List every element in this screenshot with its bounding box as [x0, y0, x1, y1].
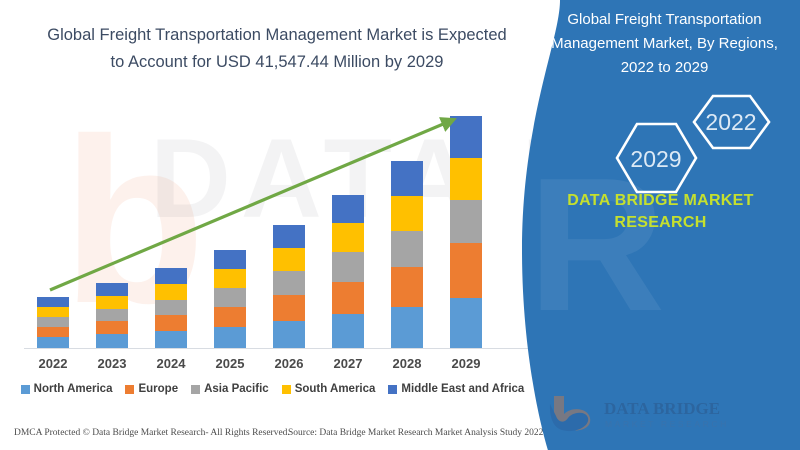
legend-swatch-icon	[282, 385, 291, 394]
hexagon-label-2022: 2022	[705, 109, 756, 135]
x-axis-label-2022: 2022	[23, 356, 83, 371]
bar-segment-2027-middle-east-and-africa	[332, 195, 364, 223]
bar-segment-2025-north-america	[214, 327, 246, 348]
bar-segment-2028-asia-pacific	[391, 231, 423, 267]
bar-segment-2026-middle-east-and-africa	[273, 225, 305, 248]
legend-label: South America	[295, 383, 376, 395]
x-axis-label-2024: 2024	[141, 356, 201, 371]
brand-name-line1: DATA BRIDGE MARKET	[538, 192, 783, 210]
bar-segment-2028-north-america	[391, 307, 423, 348]
bar-segment-2029-asia-pacific	[450, 200, 482, 243]
bar-segment-2023-south-america	[96, 296, 128, 309]
logo-text-line2: MARKET RESEARCH	[605, 419, 729, 429]
bar-segment-2028-south-america	[391, 196, 423, 231]
logo-text-line1: DATA BRIDGE	[604, 399, 720, 418]
bar-segment-2027-europe	[332, 282, 364, 314]
bar-segment-2025-europe	[214, 307, 246, 327]
bar-segment-2026-north-america	[273, 321, 305, 348]
bar-segment-2024-south-america	[155, 284, 187, 300]
x-axis-label-2026: 2026	[259, 356, 319, 371]
infographic-root: b DATA BRIDGE Global Freight Transportat…	[0, 0, 800, 450]
bar-2024	[155, 268, 187, 348]
bar-segment-2029-middle-east-and-africa	[450, 116, 482, 158]
bar-segment-2024-asia-pacific	[155, 300, 187, 315]
branding-title: Global Freight Transportation Management…	[542, 8, 787, 80]
bar-segment-2029-south-america	[450, 158, 482, 200]
bar-segment-2029-europe	[450, 243, 482, 298]
bar-2026	[273, 225, 305, 348]
x-axis-label-2023: 2023	[82, 356, 142, 371]
bar-segment-2024-middle-east-and-africa	[155, 268, 187, 284]
bar-segment-2022-north-america	[37, 337, 69, 348]
bar-segment-2023-asia-pacific	[96, 309, 128, 321]
bar-segment-2024-north-america	[155, 331, 187, 348]
bar-segment-2022-middle-east-and-africa	[37, 297, 69, 307]
bar-segment-2028-europe	[391, 267, 423, 307]
chart-panel: Global Freight Transportation Management…	[0, 0, 560, 450]
legend-item-south-america[interactable]: South America	[282, 383, 376, 395]
legend-item-north-america[interactable]: North America	[21, 383, 113, 395]
bar-segment-2023-middle-east-and-africa	[96, 283, 128, 296]
bar-segment-2029-north-america	[450, 298, 482, 348]
footer-copyright: DMCA Protected © Data Bridge Market Rese…	[14, 428, 290, 438]
brand-name-line2: RESEARCH	[538, 214, 783, 232]
bar-segment-2026-asia-pacific	[273, 271, 305, 295]
legend-swatch-icon	[388, 385, 397, 394]
hexagon-group-icon: 2022 2029	[580, 88, 795, 198]
bar-2027	[332, 195, 364, 348]
legend-item-asia-pacific[interactable]: Asia Pacific	[191, 383, 269, 395]
bar-2029	[450, 116, 482, 348]
legend-label: North America	[34, 383, 113, 395]
bar-segment-2025-south-america	[214, 269, 246, 288]
bar-segment-2022-south-america	[37, 307, 69, 317]
bar-segment-2026-south-america	[273, 248, 305, 271]
bar-segment-2027-north-america	[332, 314, 364, 348]
bar-segment-2028-middle-east-and-africa	[391, 161, 423, 196]
legend-item-europe[interactable]: Europe	[125, 383, 178, 395]
bar-segment-2027-south-america	[332, 223, 364, 252]
bar-2023	[96, 283, 128, 348]
bar-2028	[391, 161, 423, 348]
x-axis-label-2029: 2029	[436, 356, 496, 371]
hexagon-label-2029: 2029	[630, 146, 681, 172]
bar-2025	[214, 250, 246, 348]
legend-swatch-icon	[21, 385, 30, 394]
x-axis-line	[24, 348, 530, 349]
x-axis-label-2025: 2025	[200, 356, 260, 371]
bar-segment-2027-asia-pacific	[332, 252, 364, 282]
bar-segment-2022-europe	[37, 327, 69, 337]
legend-item-middle-east-and-africa[interactable]: Middle East and Africa	[388, 383, 524, 395]
legend-swatch-icon	[125, 385, 134, 394]
branding-panel: R Global Freight Transportation Manageme…	[520, 0, 800, 450]
bar-segment-2024-europe	[155, 315, 187, 331]
bar-segment-2023-europe	[96, 321, 128, 334]
data-bridge-logo: DATA BRIDGE MARKET RESEARCH	[542, 392, 772, 434]
bar-segment-2022-asia-pacific	[37, 317, 69, 327]
x-axis-label-2027: 2027	[318, 356, 378, 371]
legend-label: Middle East and Africa	[401, 383, 524, 395]
bar-segment-2025-middle-east-and-africa	[214, 250, 246, 269]
x-axis-label-2028: 2028	[377, 356, 437, 371]
legend-label: Asia Pacific	[204, 383, 269, 395]
chart-legend: North AmericaEuropeAsia PacificSouth Ame…	[0, 383, 545, 395]
legend-label: Europe	[138, 383, 178, 395]
bar-segment-2026-europe	[273, 295, 305, 321]
bar-segment-2025-asia-pacific	[214, 288, 246, 307]
bar-segment-2023-north-america	[96, 334, 128, 348]
legend-swatch-icon	[191, 385, 200, 394]
footer-source: Source: Data Bridge Market Research Mark…	[288, 428, 543, 438]
bar-2022	[37, 297, 69, 348]
